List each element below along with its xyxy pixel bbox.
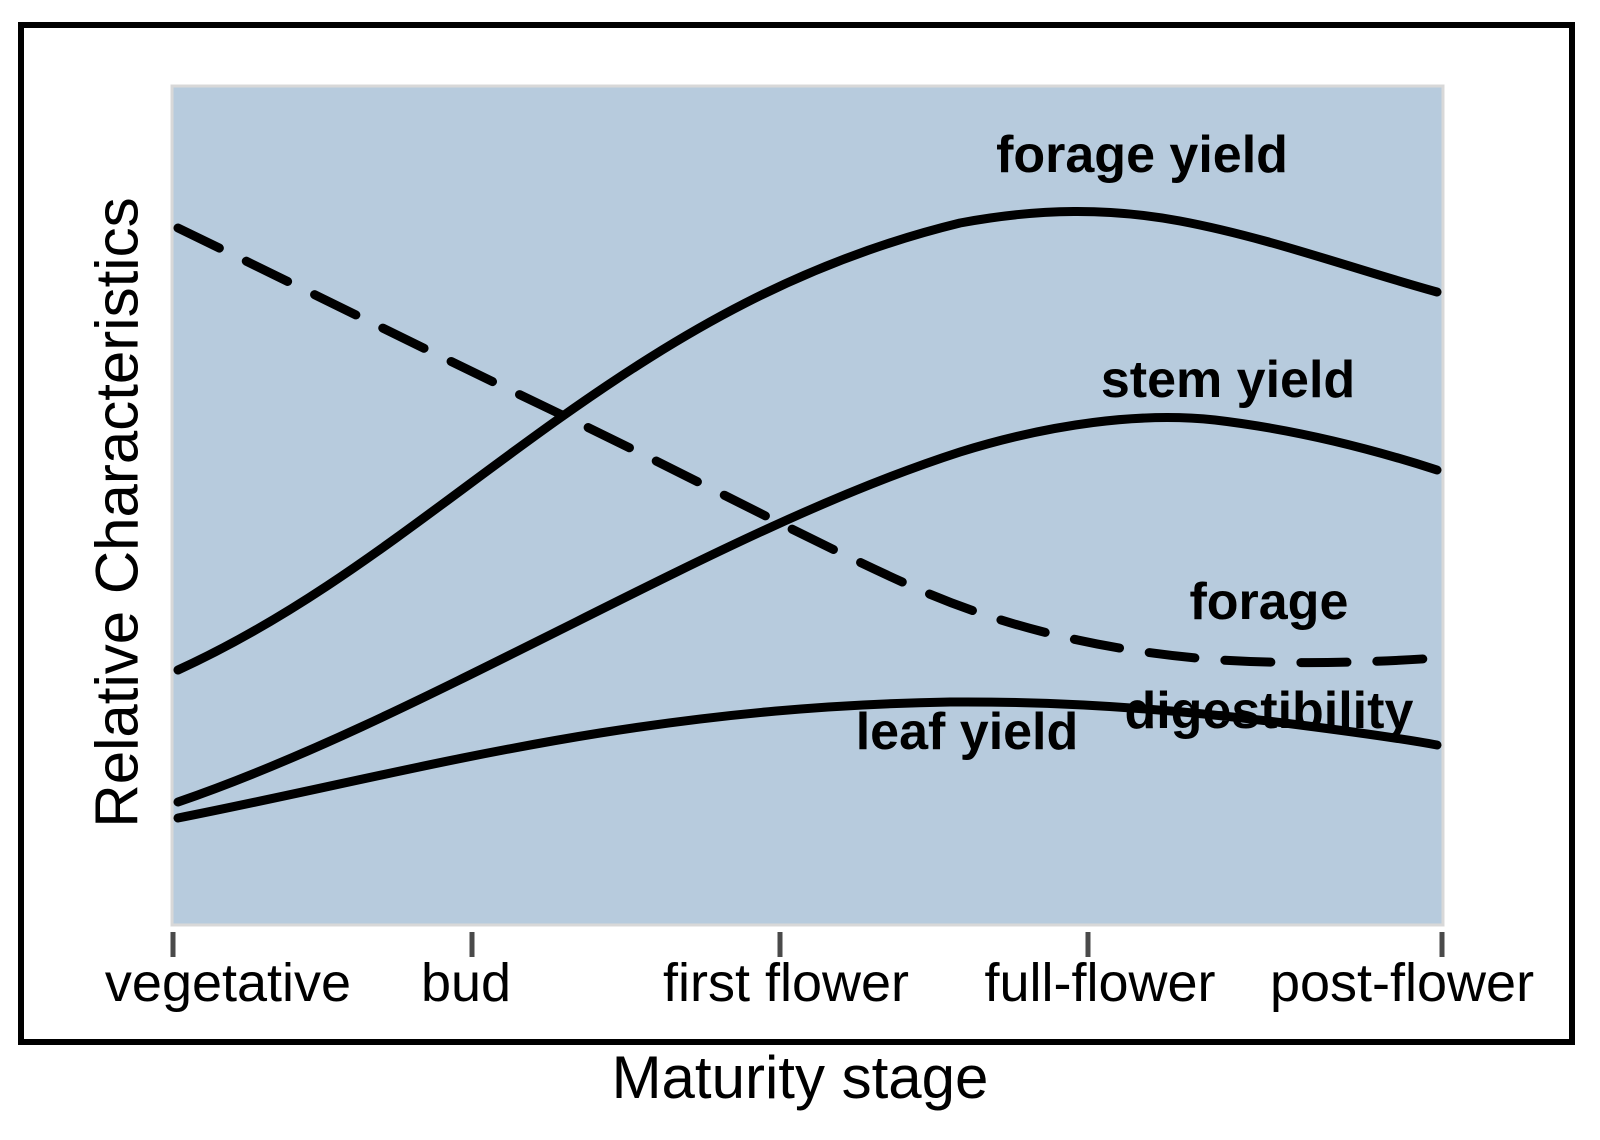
x-tick-label-post-flower: post-flower [1270, 952, 1534, 1014]
series-label-forage-digestibility-line2: digestibility [1124, 682, 1413, 740]
series-label-forage-yield: forage yield [996, 128, 1288, 183]
series-label-forage-digestibility: forage digestibility [1067, 520, 1414, 793]
y-axis-title: Relative Characteristics [83, 163, 152, 863]
x-axis-title: Maturity stage [0, 1043, 1600, 1112]
x-tick-label-bud: bud [421, 952, 511, 1014]
chart-figure: Relative Characteristics Maturity stage … [0, 0, 1600, 1140]
series-label-forage-digestibility-line1: forage [1189, 573, 1348, 631]
x-tick-label-full-flower: full-flower [984, 952, 1215, 1014]
x-tick-label-first-flower: first flower [663, 952, 909, 1014]
x-tick-label-vegetative: vegetative [105, 952, 351, 1014]
series-label-leaf-yield: leaf yield [856, 705, 1079, 760]
series-label-stem-yield: stem yield [1101, 353, 1355, 408]
